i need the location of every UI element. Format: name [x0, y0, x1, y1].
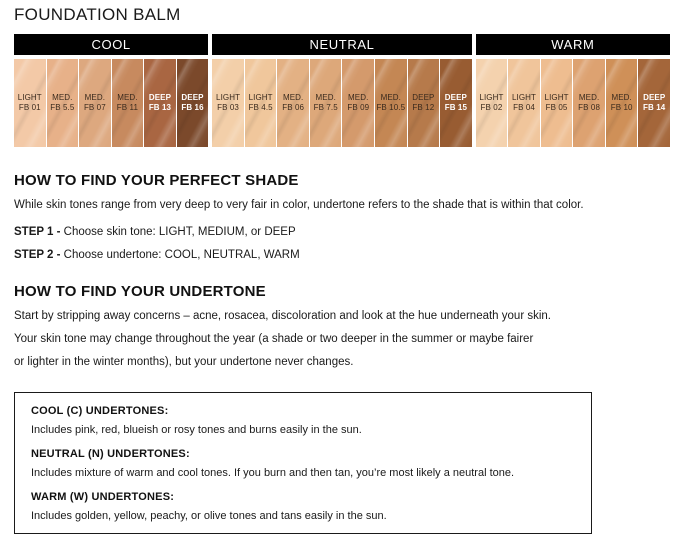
- swatch-tone: DEEP: [149, 93, 171, 103]
- swatch-label: MED.FB 10.5: [376, 93, 405, 113]
- swatch-row: LIGHTFB 03LIGHTFB 4.5MED.FB 06MED.FB 7.5…: [212, 59, 471, 147]
- swatch-code: FB 09: [347, 103, 369, 113]
- shade-swatch[interactable]: MED.FB 5.5: [47, 59, 79, 147]
- shade-group-neutral: NEUTRALLIGHTFB 03LIGHTFB 4.5MED.FB 06MED…: [212, 34, 471, 147]
- shade-swatch[interactable]: DEEPFB 15: [440, 59, 472, 147]
- shade-chart: COOLLIGHTFB 01MED.FB 5.5MED.FB 07MED.FB …: [14, 34, 670, 147]
- swatch-tone: MED.: [578, 93, 600, 103]
- swatch-label: MED.FB 08: [578, 93, 600, 113]
- swatch-label: MED.FB 07: [84, 93, 106, 113]
- undertone-block-description: Includes pink, red, blueish or rosy tone…: [31, 424, 575, 437]
- how-to-find-shade-section: HOW TO FIND YOUR PERFECT SHADE While ski…: [14, 172, 664, 271]
- swatch-label: MED.FB 10: [611, 93, 633, 113]
- swatch-code: FB 08: [578, 103, 600, 113]
- shade-group-cool: COOLLIGHTFB 01MED.FB 5.5MED.FB 07MED.FB …: [14, 34, 208, 147]
- swatch-tone: MED.: [117, 93, 138, 103]
- swatch-code: FB 13: [149, 103, 171, 113]
- swatch-tone: MED.: [50, 93, 74, 103]
- step-2-text: Choose undertone: COOL, NEUTRAL, WARM: [60, 249, 299, 261]
- swatch-code: FB 4.5: [249, 103, 273, 113]
- shade-swatch[interactable]: LIGHTFB 02: [476, 59, 508, 147]
- shade-swatch[interactable]: MED.FB 07: [79, 59, 111, 147]
- undertone-block-title: WARM (W) UNDERTONES:: [31, 491, 575, 503]
- shade-section-heading: HOW TO FIND YOUR PERFECT SHADE: [14, 172, 664, 189]
- undertone-block: COOL (C) UNDERTONES:Includes pink, red, …: [31, 405, 575, 437]
- undertone-block-title: COOL (C) UNDERTONES:: [31, 405, 575, 417]
- swatch-row: LIGHTFB 01MED.FB 5.5MED.FB 07MED.FB 11DE…: [14, 59, 208, 147]
- step-1: STEP 1 - Choose skin tone: LIGHT, MEDIUM…: [14, 225, 664, 239]
- swatch-tone: MED.: [376, 93, 405, 103]
- shade-swatch[interactable]: MED.FB 08: [573, 59, 605, 147]
- swatch-label: DEEPFB 13: [149, 93, 171, 113]
- step-1-label: STEP 1 -: [14, 226, 60, 238]
- shade-swatch[interactable]: DEEPFB 14: [638, 59, 670, 147]
- swatch-tone: DEEP: [643, 93, 665, 103]
- swatch-code: FB 01: [18, 103, 42, 113]
- swatch-code: FB 10.5: [376, 103, 405, 113]
- shade-swatch[interactable]: LIGHTFB 01: [14, 59, 46, 147]
- undertone-block: NEUTRAL (N) UNDERTONES:Includes mixture …: [31, 448, 575, 480]
- swatch-code: FB 05: [545, 103, 569, 113]
- shade-guide-page: FOUNDATION BALM COOLLIGHTFB 01MED.FB 5.5…: [0, 0, 679, 544]
- swatch-tone: LIGHT: [512, 93, 536, 103]
- swatch-label: LIGHTFB 04: [512, 93, 536, 113]
- swatch-tone: MED.: [314, 93, 338, 103]
- swatch-tone: DEEP: [445, 93, 467, 103]
- step-1-text: Choose skin tone: LIGHT, MEDIUM, or DEEP: [60, 226, 295, 238]
- swatch-label: LIGHTFB 03: [216, 93, 240, 113]
- shade-swatch[interactable]: LIGHTFB 04: [508, 59, 540, 147]
- swatch-label: DEEPFB 14: [643, 93, 665, 113]
- swatch-label: DEEPFB 16: [181, 93, 203, 113]
- how-to-find-undertone-section: HOW TO FIND YOUR UNDERTONE Start by stri…: [14, 283, 664, 378]
- group-header-warm: WARM: [476, 34, 670, 55]
- undertone-block-description: Includes mixture of warm and cool tones.…: [31, 467, 575, 480]
- group-header-neutral: NEUTRAL: [212, 34, 471, 55]
- swatch-tone: MED.: [611, 93, 633, 103]
- shade-section-intro: While skin tones range from very deep to…: [14, 198, 664, 212]
- step-2-label: STEP 2 -: [14, 249, 60, 261]
- shade-swatch[interactable]: DEEPFB 12: [408, 59, 440, 147]
- swatch-code: FB 16: [181, 103, 203, 113]
- swatch-code: FB 7.5: [314, 103, 338, 113]
- swatch-code: FB 5.5: [50, 103, 74, 113]
- undertone-block-title: NEUTRAL (N) UNDERTONES:: [31, 448, 575, 460]
- shade-swatch[interactable]: DEEPFB 16: [177, 59, 209, 147]
- swatch-label: LIGHTFB 01: [18, 93, 42, 113]
- swatch-label: DEEPFB 12: [412, 93, 434, 113]
- swatch-label: LIGHTFB 4.5: [249, 93, 273, 113]
- swatch-tone: MED.: [84, 93, 106, 103]
- swatch-label: MED.FB 11: [117, 93, 138, 113]
- swatch-code: FB 07: [84, 103, 106, 113]
- shade-group-warm: WARMLIGHTFB 02LIGHTFB 04LIGHTFB 05MED.FB…: [476, 34, 670, 147]
- swatch-label: MED.FB 09: [347, 93, 369, 113]
- shade-swatch[interactable]: LIGHTFB 4.5: [245, 59, 277, 147]
- undertone-block: WARM (W) UNDERTONES:Includes golden, yel…: [31, 491, 575, 523]
- swatch-code: FB 03: [216, 103, 240, 113]
- swatch-label: MED.FB 5.5: [50, 93, 74, 113]
- shade-swatch[interactable]: MED.FB 11: [112, 59, 144, 147]
- shade-swatch[interactable]: MED.FB 7.5: [310, 59, 342, 147]
- swatch-tone: LIGHT: [545, 93, 569, 103]
- undertone-section-heading: HOW TO FIND YOUR UNDERTONE: [14, 283, 664, 300]
- shade-swatch[interactable]: MED.FB 10.5: [375, 59, 407, 147]
- group-header-cool: COOL: [14, 34, 208, 55]
- shade-swatch[interactable]: MED.FB 06: [277, 59, 309, 147]
- undertone-block-description: Includes golden, yellow, peachy, or oliv…: [31, 510, 575, 523]
- swatch-code: FB 11: [117, 103, 138, 113]
- swatch-tone: DEEP: [181, 93, 203, 103]
- swatch-code: FB 15: [445, 103, 467, 113]
- swatch-tone: LIGHT: [249, 93, 273, 103]
- swatch-code: FB 12: [412, 103, 434, 113]
- shade-swatch[interactable]: LIGHTFB 03: [212, 59, 244, 147]
- swatch-label: LIGHTFB 02: [479, 93, 503, 113]
- undertone-definitions-box: COOL (C) UNDERTONES:Includes pink, red, …: [14, 392, 592, 534]
- shade-swatch[interactable]: MED.FB 09: [342, 59, 374, 147]
- shade-swatch[interactable]: DEEPFB 13: [144, 59, 176, 147]
- swatch-code: FB 14: [643, 103, 665, 113]
- undertone-line-3: or lighter in the winter months), but yo…: [14, 355, 664, 369]
- swatch-code: FB 10: [611, 103, 633, 113]
- swatch-code: FB 04: [512, 103, 536, 113]
- undertone-line-2: Your skin tone may change throughout the…: [14, 332, 664, 346]
- swatch-label: LIGHTFB 05: [545, 93, 569, 113]
- page-title: FOUNDATION BALM: [14, 5, 181, 25]
- shade-swatch[interactable]: MED.FB 10: [606, 59, 638, 147]
- swatch-tone: MED.: [347, 93, 369, 103]
- swatch-tone: DEEP: [412, 93, 434, 103]
- swatch-code: FB 02: [479, 103, 503, 113]
- swatch-label: MED.FB 7.5: [314, 93, 338, 113]
- shade-swatch[interactable]: LIGHTFB 05: [541, 59, 573, 147]
- swatch-tone: LIGHT: [18, 93, 42, 103]
- swatch-row: LIGHTFB 02LIGHTFB 04LIGHTFB 05MED.FB 08M…: [476, 59, 670, 147]
- swatch-tone: LIGHT: [216, 93, 240, 103]
- swatch-label: DEEPFB 15: [445, 93, 467, 113]
- swatch-tone: LIGHT: [479, 93, 503, 103]
- step-2: STEP 2 - Choose undertone: COOL, NEUTRAL…: [14, 248, 664, 262]
- undertone-line-1: Start by stripping away concerns – acne,…: [14, 309, 664, 323]
- swatch-tone: MED.: [282, 93, 304, 103]
- swatch-code: FB 06: [282, 103, 304, 113]
- swatch-label: MED.FB 06: [282, 93, 304, 113]
